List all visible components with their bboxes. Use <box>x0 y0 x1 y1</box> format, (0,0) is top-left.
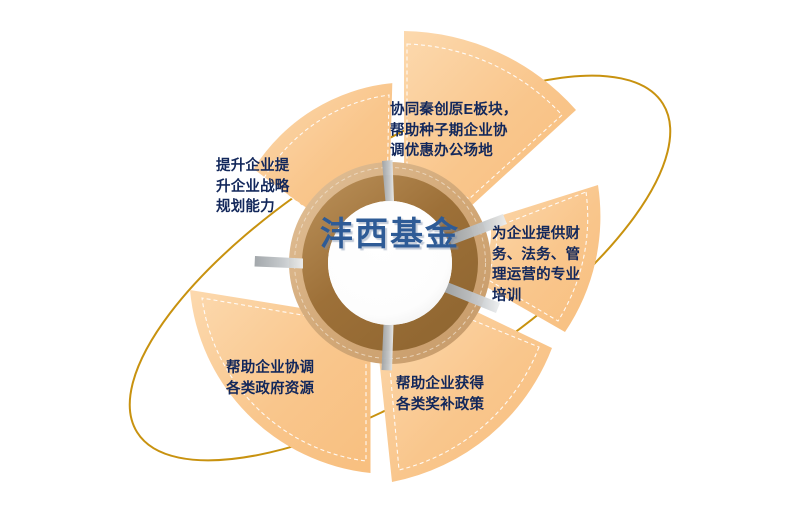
segment-label-coordination-qinchuangyuan: 协同秦创原E板块， 帮助种子期企业协 调优惠办公场地 <box>390 100 560 162</box>
hub-label: 沣西基金 <box>320 214 460 254</box>
segment-label-government-resources: 帮助企业协调 各类政府资源 <box>226 358 356 399</box>
segment-label-strategy-planning: 提升企业提 升企业战略 规划能力 <box>216 156 346 218</box>
segment-label-professional-training: 为企业提供财 务、法务、管 理运营的专业 培训 <box>492 224 604 306</box>
segment-label-subsidy-policies: 帮助企业获得 各类奖补政策 <box>396 374 518 415</box>
diagram-canvas: 协同秦创原E板块， 帮助种子期企业协 调优惠办公场地 提升企业提 升企业战略 规… <box>0 0 800 516</box>
radial-wheel-graphic <box>0 0 800 516</box>
